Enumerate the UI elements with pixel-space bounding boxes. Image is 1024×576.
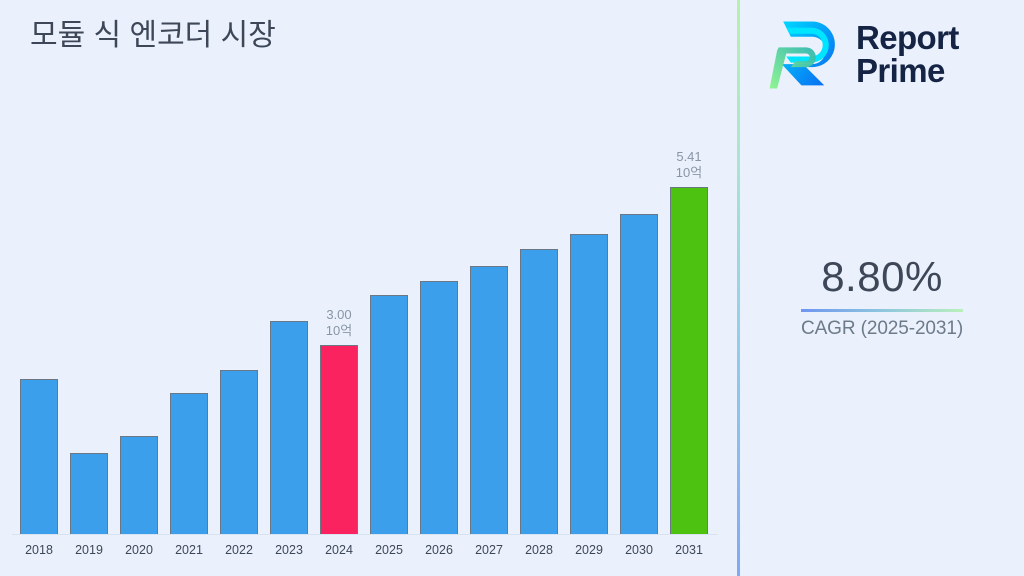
x-axis-tick-2021: 2021 xyxy=(170,543,208,557)
x-axis-tick-2022: 2022 xyxy=(220,543,258,557)
x-axis-line xyxy=(12,534,718,535)
bar-2027[interactable] xyxy=(470,266,508,534)
x-axis-tick-2024: 2024 xyxy=(320,543,358,557)
bar-2031[interactable] xyxy=(670,187,708,534)
bar-group xyxy=(470,266,508,534)
cagr-divider xyxy=(801,309,963,312)
bar-2030[interactable] xyxy=(620,214,658,534)
bar-group: 3.0010억 xyxy=(320,345,358,534)
x-axis-tick-2029: 2029 xyxy=(570,543,608,557)
brand-name-line1: Report xyxy=(856,22,959,55)
brand-logo: Report Prime xyxy=(768,12,1008,98)
plot-area: 2018201920202021202220233.0010억202420252… xyxy=(0,0,737,576)
bar-group xyxy=(370,295,408,534)
x-axis-tick-2028: 2028 xyxy=(520,543,558,557)
x-axis-tick-2019: 2019 xyxy=(70,543,108,557)
bar-value-unit: 10억 xyxy=(308,323,370,339)
x-axis-tick-2031: 2031 xyxy=(670,543,708,557)
chart-page: 모듈 식 엔코더 시장 2018201920202021202220233.00… xyxy=(0,0,1024,576)
bar-value-label-2024: 3.0010억 xyxy=(308,307,370,339)
bar-group xyxy=(520,249,558,534)
bar-2019[interactable] xyxy=(70,453,108,534)
bar-group xyxy=(570,234,608,534)
bar-value-number: 5.41 xyxy=(658,149,720,165)
bar-value-label-2031: 5.4110억 xyxy=(658,149,720,181)
bar-2018[interactable] xyxy=(20,379,58,534)
bar-2023[interactable] xyxy=(270,321,308,534)
report-prime-logo-icon xyxy=(768,17,844,93)
bar-group xyxy=(620,214,658,534)
x-axis-tick-2025: 2025 xyxy=(370,543,408,557)
bar-group xyxy=(220,370,258,534)
brand-name-line2: Prime xyxy=(856,55,959,88)
bar-2021[interactable] xyxy=(170,393,208,534)
chart-panel: 모듈 식 엔코더 시장 2018201920202021202220233.00… xyxy=(0,0,737,576)
bar-group xyxy=(420,281,458,534)
x-axis-tick-2020: 2020 xyxy=(120,543,158,557)
bar-group: 5.4110억 xyxy=(670,187,708,534)
bar-value-number: 3.00 xyxy=(308,307,370,323)
x-axis-tick-2030: 2030 xyxy=(620,543,658,557)
cagr-caption: CAGR (2025-2031) xyxy=(740,318,1024,340)
x-axis-tick-2023: 2023 xyxy=(270,543,308,557)
bar-2020[interactable] xyxy=(120,436,158,534)
brand-name: Report Prime xyxy=(856,22,959,87)
bar-group xyxy=(270,321,308,534)
x-axis-tick-2018: 2018 xyxy=(20,543,58,557)
side-panel: Report Prime 8.80% CAGR (2025-2031) xyxy=(740,0,1024,576)
bar-group xyxy=(170,393,208,534)
bar-2028[interactable] xyxy=(520,249,558,534)
bar-2026[interactable] xyxy=(420,281,458,534)
bar-2025[interactable] xyxy=(370,295,408,534)
cagr-value: 8.80% xyxy=(740,252,1024,302)
x-axis-tick-2027: 2027 xyxy=(470,543,508,557)
bar-2029[interactable] xyxy=(570,234,608,534)
bar-2022[interactable] xyxy=(220,370,258,534)
cagr-block: 8.80% CAGR (2025-2031) xyxy=(740,252,1024,340)
bar-group xyxy=(70,453,108,534)
bar-2024[interactable] xyxy=(320,345,358,534)
bar-group xyxy=(20,379,58,534)
x-axis-tick-2026: 2026 xyxy=(420,543,458,557)
bar-value-unit: 10억 xyxy=(658,165,720,181)
bar-group xyxy=(120,436,158,534)
